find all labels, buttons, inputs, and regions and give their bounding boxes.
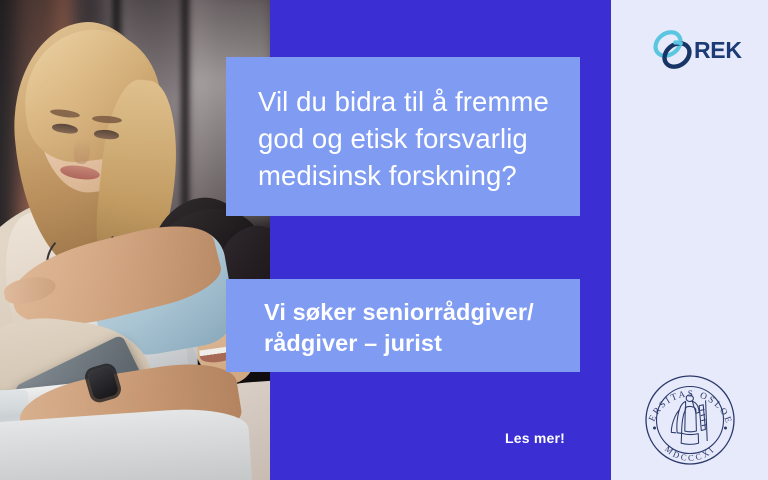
university-of-oslo-seal-icon: UNIVERSITAS OSLOENSIS MDCCCXI (642, 372, 738, 468)
rek-logo[interactable]: REK (650, 27, 740, 73)
role-card: Vi søker seniorrådgiver/rådgiver – juris… (226, 279, 580, 372)
rek-wordmark: REK (694, 39, 742, 62)
role-text: Vi søker seniorrådgiver/rådgiver – juris… (264, 297, 554, 359)
headline-line-1: Vil du bidra til å fremme (258, 86, 549, 117)
rek-interlocking-rings-icon (650, 28, 696, 72)
read-more-link[interactable]: Les mer! (505, 430, 565, 446)
headline-card: Vil du bidra til å fremmegod og etisk fo… (226, 57, 580, 216)
headline-text: Vil du bidra til å fremmegod og etisk fo… (258, 83, 550, 194)
headline-line-3: medisinsk forskning? (258, 160, 517, 191)
svg-text:UNIVERSITAS OSLOENSIS: UNIVERSITAS OSLOENSIS (642, 372, 734, 426)
role-line-2: rådgiver – jurist (264, 330, 442, 356)
headline-line-2: god og etisk forsvarlig (258, 123, 528, 154)
job-advert-banner: Vil du bidra til å fremmegod og etisk fo… (0, 0, 768, 480)
university-of-oslo-seal[interactable]: UNIVERSITAS OSLOENSIS MDCCCXI (642, 372, 738, 468)
role-line-1: Vi søker seniorrådgiver/ (264, 299, 534, 325)
